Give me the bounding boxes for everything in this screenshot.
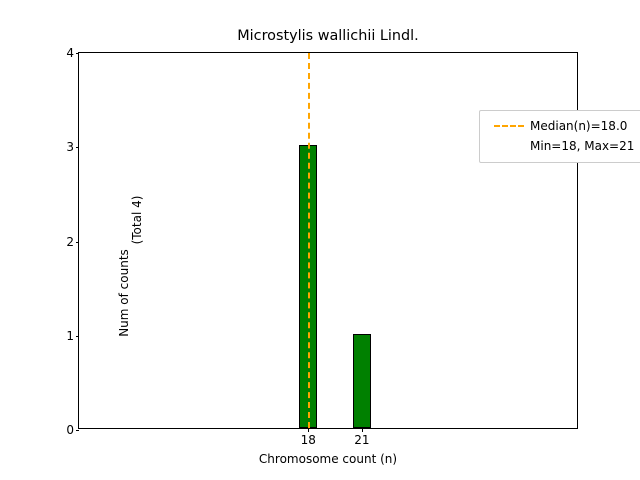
legend-item-minmax: Min=18, Max=21 [488, 136, 640, 156]
x-tick-label: 18 [301, 434, 316, 446]
y-axis-label: Num of counts [117, 193, 131, 393]
bar-21 [353, 334, 371, 428]
y-tick-label: 4 [66, 47, 74, 59]
x-axis-label: Chromosome count (n) [78, 452, 578, 466]
y-tick-mark [76, 147, 80, 148]
median-line [308, 53, 310, 428]
y-tick-mark [76, 430, 80, 431]
y-tick-label: 0 [66, 424, 74, 436]
page-title: Microstylis wallichii Lindl. [78, 28, 578, 44]
legend-label-minmax: Min=18, Max=21 [530, 139, 634, 153]
plot-area: 0 1 2 3 4 18 21 Num of counts (Total [78, 52, 578, 429]
x-tick-label: 21 [354, 434, 369, 446]
legend: Median(n)=18.0 Min=18, Max=21 [479, 110, 640, 163]
y-tick-mark [76, 53, 80, 54]
legend-item-median: Median(n)=18.0 [488, 116, 640, 136]
y-tick-mark [76, 336, 80, 337]
x-tick-mark [362, 428, 363, 432]
y-axis-label-sub: (Total 4) [130, 120, 144, 320]
y-tick-mark [76, 242, 80, 243]
chart-figure: Microstylis wallichii Lindl. 0 1 2 3 [0, 0, 640, 480]
legend-dash-icon [488, 125, 530, 127]
y-tick-label: 1 [66, 330, 74, 342]
x-tick-mark [308, 428, 309, 432]
y-tick-label: 2 [66, 236, 74, 248]
y-tick-label: 3 [66, 141, 74, 153]
legend-label-median: Median(n)=18.0 [530, 119, 627, 133]
